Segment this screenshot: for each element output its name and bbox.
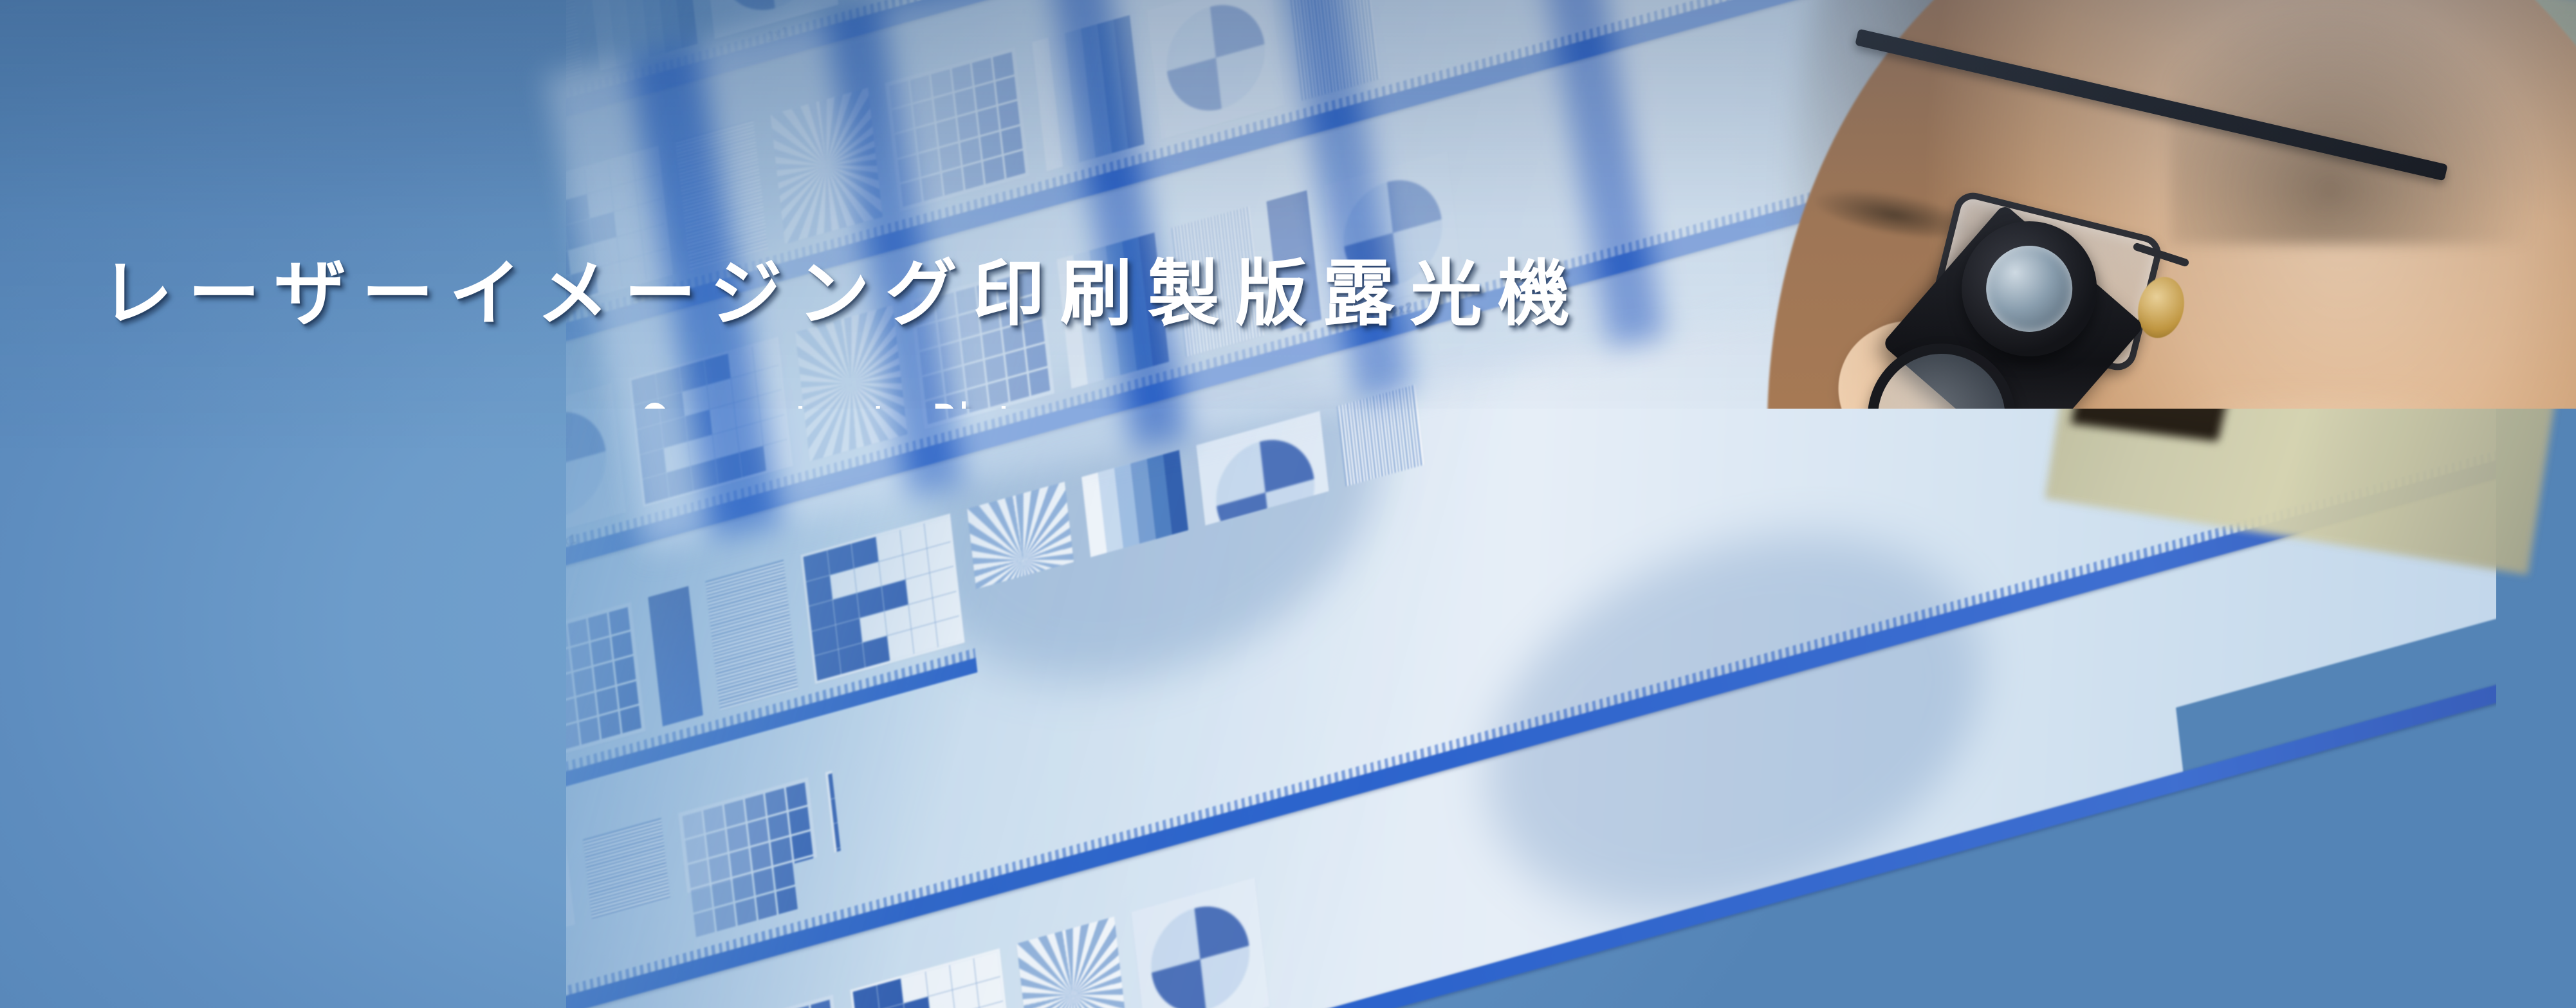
- banner-body-copy: デジタル印刷は私達の真新しい2.0 CTPから始まり。 完璧な構造、高精細な画像…: [0, 566, 1686, 693]
- banner-body-line-1: デジタル印刷は私達の真新しい2.0 CTPから始まり。: [0, 566, 1686, 630]
- hero-banner: 1x1 2x2 3x3: [0, 0, 2576, 1008]
- banner-headline: レーザーイメージング印刷製版露光機: [0, 256, 1686, 333]
- banner-text-layer: レーザーイメージング印刷製版露光機 Computer to Plate デジタル…: [0, 0, 2576, 1008]
- banner-subheadline: Computer to Plate: [319, 395, 1360, 473]
- banner-body-line-2: 完璧な構造、高精細な画像、効率倍増。: [0, 630, 1686, 693]
